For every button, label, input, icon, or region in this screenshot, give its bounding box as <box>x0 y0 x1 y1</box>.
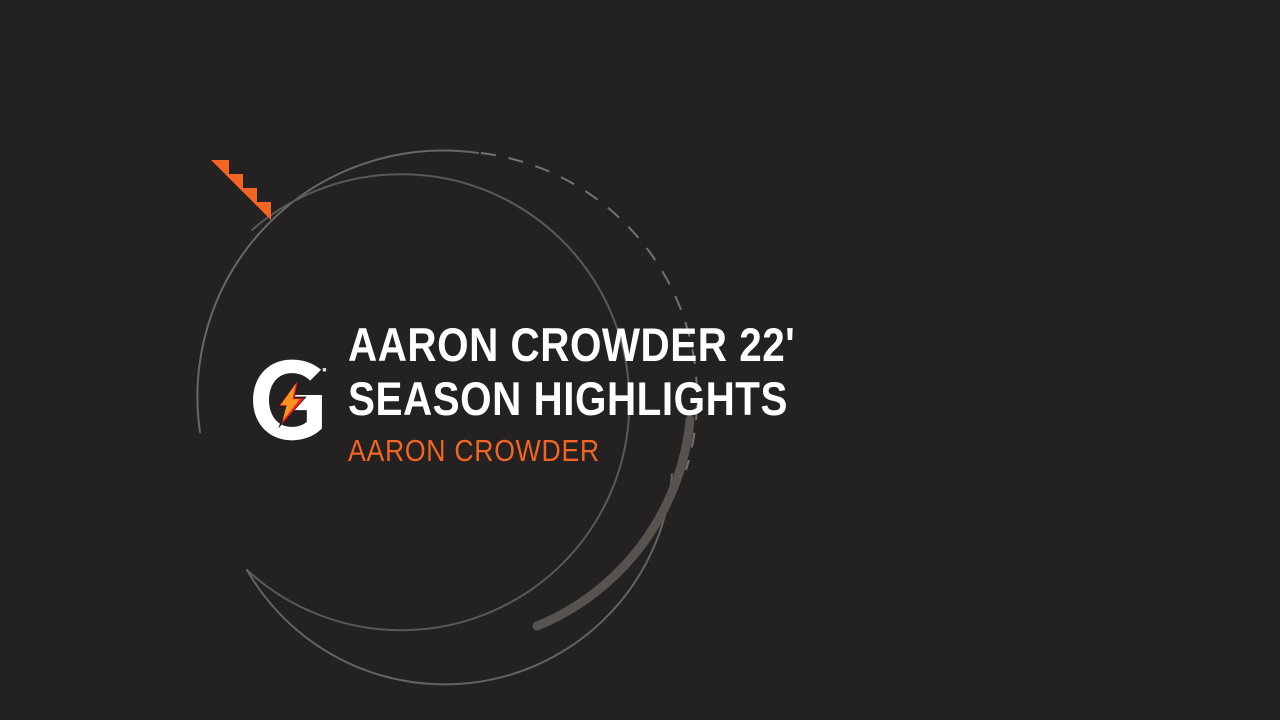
gatorade-g-icon <box>248 358 332 442</box>
accent-triangle-4 <box>253 202 271 220</box>
gatorade-g-logo <box>248 358 332 442</box>
ring-thin-inner-arc-lower <box>247 474 672 684</box>
logo-trademark-mark <box>323 368 326 371</box>
slide-text-block: AARON CROWDER 22' SEASON HIGHLIGHTS AARO… <box>348 318 1028 468</box>
slide-subtitle: AARON CROWDER <box>348 434 933 468</box>
orange-triangle-accent-cluster <box>211 160 281 230</box>
page-title: AARON CROWDER 22' SEASON HIGHLIGHTS <box>348 318 933 426</box>
title-slide: AARON CROWDER 22' SEASON HIGHLIGHTS AARO… <box>0 0 1280 720</box>
